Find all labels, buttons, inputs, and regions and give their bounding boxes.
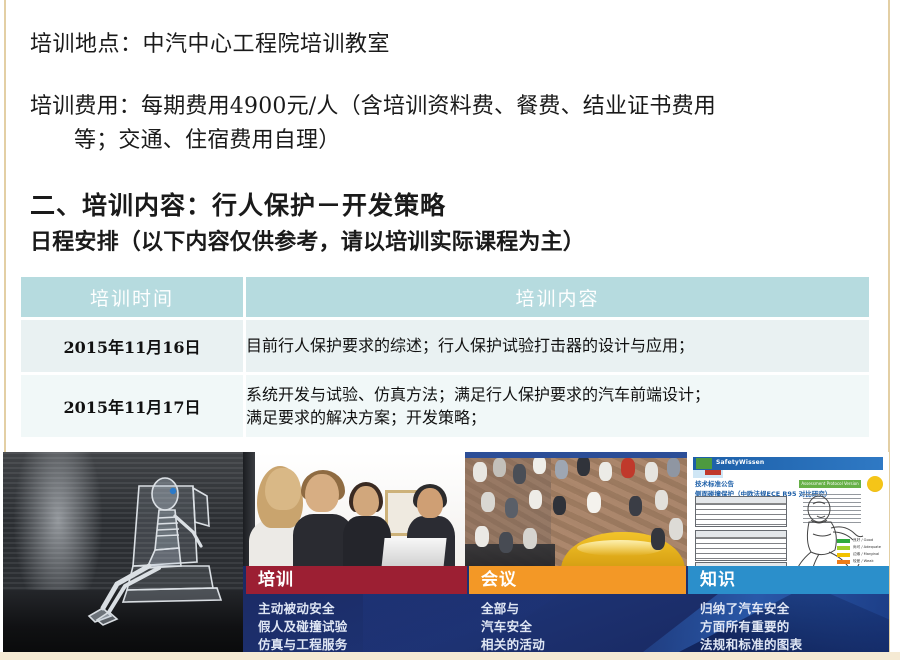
crowd-person [651,528,665,550]
category-title-conference: 会议 [469,566,686,594]
attendee-head [353,486,379,516]
category-bar-conference: 会议 [469,566,686,594]
category-description-knowledge: 归纳了汽车安全 方面所有重要的 法规和标准的图表 [700,600,889,652]
crowd-person [555,460,568,479]
table-row: 2015年11月17日 系统开发与试验、仿真方法；满足行人保护要求的汽车前端设计… [21,372,869,437]
legend-item: 良好 / Good [837,538,883,543]
dummy-figure-icon [81,466,231,626]
cell-date-2: 2015年11月17日 [21,372,246,437]
table-rows-placeholder [696,538,786,560]
training-fee-line-2: 等；交通、住宿费用自理） [74,122,340,154]
legend-label: 良好 / Good [853,538,873,543]
crowd-person [481,492,495,512]
table-rows-placeholder [696,504,786,526]
document-tab-accent [705,470,721,475]
section-subheading: 日程安排（以下内容仅供参考，请以培训实际课程为主） [30,224,585,256]
crowd-person [577,456,590,476]
crowd-person [645,462,658,482]
crowd-person [587,492,601,513]
training-fee-line-1: 培训费用：每期费用4900元/人（含培训资料费、餐费、结业证书费用 [30,88,716,120]
legend-swatch [837,546,850,550]
laptop [381,538,446,568]
legend-swatch [837,560,850,564]
panel-top-strip [465,452,687,458]
document-data-table [695,530,787,561]
crowd-person [505,498,518,518]
cell-date-1: 2015年11月16日 [21,317,246,372]
crowd-person [523,528,537,549]
cell-content-1: 目前行人保护要求的综述；行人保护试验打击器的设计与应用； [246,317,869,372]
table-header-bar [696,531,786,538]
column-header-time: 培训时间 [21,277,246,317]
training-location-line: 培训地点：中汽中心工程院培训教室 [30,26,390,58]
crowd-person [629,496,642,516]
frame-line-bottom [0,652,900,660]
category-description-conference: 全部与 汽车安全 相关的活动 [481,600,676,652]
category-title-training: 培训 [246,566,467,594]
legend-swatch [837,539,850,543]
crowd-person [533,456,546,474]
legend-label: 边缘 / Marginal [853,552,879,557]
crowd-person [553,496,566,515]
document-logo-icon [696,458,712,469]
crowd-person [667,458,680,477]
document-data-table [695,496,787,527]
crowd-person [669,518,683,540]
legend-item: 边缘 / Marginal [837,552,883,557]
category-title-knowledge: 知识 [688,566,889,594]
legend-label: 较差 / Weak [853,559,874,564]
slide-canvas: 培训地点：中汽中心工程院培训教室 培训费用：每期费用4900元/人（含培训资料费… [0,0,900,660]
photo-strip: SafetyWissen 技术标准公告 侧面碰撞保护（中欧法规ECE R95 对… [3,452,889,652]
category-bar-knowledge: 知识 [688,566,889,594]
table-header-bar [696,497,786,504]
crash-test-dummy-photo [3,452,243,652]
legend-swatch [837,553,850,557]
category-description-training: 主动被动安全 假人及碰撞试验 仿真与工程服务 [258,600,458,652]
legend-item: 尚可 / Adequate [837,545,883,550]
attendee-head [265,468,301,510]
crowd-person [529,490,542,509]
crowd-person [473,462,487,482]
document-seal-icon [867,476,883,492]
document-green-badge: Assessment Protocol Version 1.0 [799,480,861,488]
section-heading: 二、培训内容：行人保护－开发策略 [30,186,446,222]
legend-item: 较差 / Weak [837,559,883,564]
document-brand-label: SafetyWissen [716,459,764,466]
legend-label: 尚可 / Adequate [853,545,881,550]
cell-content-2: 系统开发与试验、仿真方法；满足行人保护要求的汽车前端设计； 满足要求的解决方案；… [246,372,869,437]
crowd-person [599,462,612,481]
crowd-person [493,458,506,477]
category-bar-training: 培训 [246,566,467,594]
crowd-person [499,532,513,553]
schedule-table: 培训时间 培训内容 2015年11月16日 目前行人保护要求的综述；行人保护试验… [21,277,869,437]
crowd-person [513,464,526,484]
crowd-person [621,458,635,478]
table-header-row: 培训时间 培训内容 [21,277,869,317]
crowd-person [655,490,668,510]
crowd-person [475,526,489,547]
column-header-content: 培训内容 [246,277,869,317]
attendee-head [305,474,339,512]
attendee-head [417,488,443,518]
table-row: 2015年11月16日 目前行人保护要求的综述；行人保护试验打击器的设计与应用； [21,317,869,372]
